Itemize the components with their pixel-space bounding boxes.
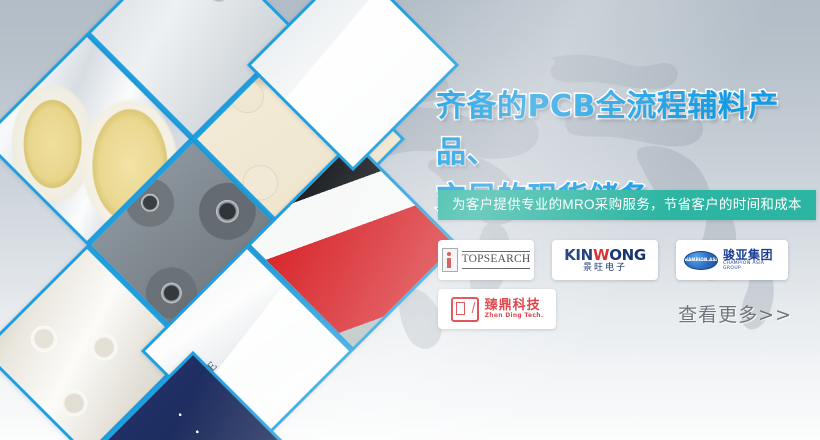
kinwong-wordmark-icon: KINWONG bbox=[564, 248, 646, 263]
zhen-ding-name-cn: 臻鼎科技 bbox=[485, 299, 544, 312]
kinwong-name-b: ONG bbox=[609, 246, 646, 264]
promo-banner: JIE 齐备的PCB全流程辅料产品、 充足的现货储备 为客户提供专业的MRO采购… bbox=[0, 0, 820, 440]
banner-content: 齐备的PCB全流程辅料产品、 充足的现货储备 为客户提供专业的MRO采购服务，节… bbox=[428, 0, 820, 440]
kinwong-name-accent: W bbox=[593, 246, 609, 264]
partner-logo-row-1: TOPSEARCH KINWONG 景旺电子 CHAMPION ASIA 骏亚集… bbox=[438, 240, 818, 280]
topsearch-mark-icon bbox=[442, 248, 458, 272]
globe-label: CHAMPION ASIA bbox=[684, 258, 718, 262]
partner-logo-champion-asia[interactable]: CHAMPION ASIA 骏亚集团 CHAMPION ASIA GROUP bbox=[676, 240, 788, 280]
topsearch-wordmark: TOPSEARCH bbox=[462, 251, 531, 269]
champion-asia-name-cn: 骏亚集团 bbox=[723, 249, 780, 261]
champion-asia-name-en: CHAMPION ASIA GROUP bbox=[723, 262, 780, 271]
partner-logo-topsearch[interactable]: TOPSEARCH bbox=[438, 240, 534, 280]
zhen-ding-mark-icon bbox=[451, 297, 479, 322]
product-collage: JIE bbox=[0, 0, 430, 440]
champion-asia-globe-icon: CHAMPION ASIA bbox=[684, 251, 718, 270]
kinwong-name-a: KIN bbox=[564, 246, 593, 264]
zhen-ding-name-en: Zhen Ding Tech. bbox=[485, 313, 544, 319]
partner-logo-zhen-ding[interactable]: 臻鼎科技 Zhen Ding Tech. bbox=[438, 289, 556, 329]
kinwong-name-cn: 景旺电子 bbox=[583, 264, 627, 273]
partner-logo-kinwong[interactable]: KINWONG 景旺电子 bbox=[552, 240, 658, 280]
banner-subtitle: 为客户提供专业的MRO采购服务，节省客户的时间和成本 bbox=[438, 190, 816, 220]
view-more-link[interactable]: 查看更多>> bbox=[678, 306, 792, 325]
